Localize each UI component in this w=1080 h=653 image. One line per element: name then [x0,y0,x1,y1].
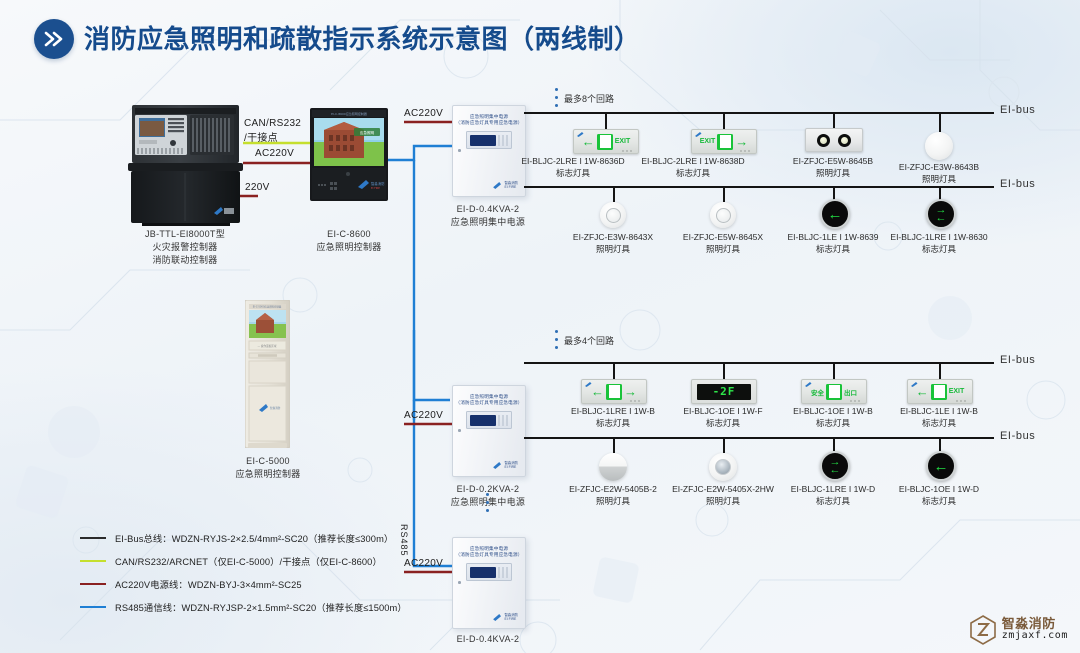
ei-bus-name-1: EI-bus [1000,104,1035,116]
psu-bottom-caption: EI-D-0.4KVA-2 [428,633,548,646]
cabinet-illustration [128,103,243,226]
brand-tag-icon [577,132,584,137]
legend-color-swatch [80,560,106,563]
device-dome-lamp[interactable] [925,132,953,160]
psu-mid-display [466,411,512,429]
arrow-right-glyph: → [624,385,637,398]
emergency-lighting-controller-8600[interactable]: EI-C-8600应急照明控制器 应急照明 智 [310,108,388,201]
drop-line [613,188,615,202]
ac220v-label-1: AC220V [255,148,294,159]
running-man-glyph [717,134,733,150]
device-label: EI-BLJC-1OE I 1W-D标志灯具 [874,484,1004,507]
device-safety-exit-sign[interactable]: 安全 出口 [801,379,867,404]
svg-text:应急照明: 应急照明 [360,130,375,135]
drop-line [605,114,607,130]
controller-8600-illustration: EI-C-8600应急照明控制器 应急照明 智 [310,108,388,201]
legend-row: RS485通信线：WDZN-RYJSP-2×1.5mm²-SC20（推荐长度≤1… [80,597,510,617]
controller-5000-illustration: EI-C-5000应急照明控制器 — 操作面板区域 智淼消防 [245,300,290,448]
exit-sign-both-icon: ← → [581,379,647,404]
drop-line [613,439,615,453]
device-round-arrow-double[interactable]: →← [926,199,956,229]
legend-text: RS485通信线：WDZN-RYJSP-2×1.5mm²-SC20（推荐长度≤1… [115,600,407,614]
device-round-arrow-left[interactable]: ← [820,199,850,229]
exit-word: EXIT [700,138,716,145]
legend-text: AC220V电源线：WDZN-BYJ-3×4mm²-SC25 [115,577,302,591]
ei-bus-line-1 [524,112,994,114]
drop-line [833,439,835,451]
legend-row: CAN/RS232/ARCNET（仅EI-C-5000）/干接点（仅EI-C-8… [80,551,510,571]
device-half-dome-lamp[interactable] [599,453,627,481]
fire-panel-model: JB-TTL-EI8000T型 [110,228,260,241]
device-label: EI-BLJC-2LRE I 1W-8636D标志灯具 [508,156,638,179]
continuation-dots-psu [486,493,489,512]
loop-note-top: 最多8个回路 [564,92,614,105]
watermark-name: 智淼消防 [1002,618,1068,630]
safety-word: 安全 [811,387,824,397]
device-label: EI-BLJC-1LE I 1W-B标志灯具 [874,406,1004,429]
psu-top-display [466,131,512,149]
psu-bottom-model: EI-D-0.4KVA-2 [428,633,548,646]
psu-top-panel-title: 应急照明集中电源（消防应急灯具专用应急电源） [453,114,525,126]
arrow-left-glyph: ← [934,459,949,474]
half-dome-lamp-icon [599,453,627,481]
sensor-lamp-icon [709,453,737,481]
round-arrow-double-icon: →← [926,199,956,229]
drop-line [723,364,725,379]
legend-text: CAN/RS232/ARCNET（仅EI-C-5000）/干接点（仅EI-C-8… [115,554,382,568]
psu-top-name: 应急照明集中电源 [428,216,548,229]
loop-dots-top [555,88,558,107]
round-arrow-left-icon: ← [820,199,850,229]
can-rs232-label: CAN/RS232/干接点 [244,118,301,144]
brand-tag-icon [911,382,918,387]
ceiling-lamp-icon [600,202,626,228]
running-man-glyph [606,384,622,400]
floor-lcd: -2F [697,384,751,400]
controller-8600-model: EI-C-8600 [289,228,409,241]
legend-color-swatch [80,537,106,540]
device-floor-indicator[interactable]: -2F [691,379,757,404]
page-header: 消防应急照明和疏散指示系统示意图（两线制） [0,0,1080,78]
device-exit-sign-left[interactable]: ← EXIT [573,129,639,154]
device-twin-spot-lamp[interactable] [805,128,863,152]
ceiling-lamp-icon [710,202,736,228]
loop-dots-bottom [555,330,558,349]
legend: EI-Bus总线：WDZN-RYJS-2×2.5/4mm²-SC20（推荐长度≤… [80,528,510,620]
device-label: EI-ZFJC-E3W-8643B照明灯具 [874,162,1004,185]
ei-bus-line-3 [524,362,994,364]
legend-row: AC220V电源线：WDZN-BYJ-3×4mm²-SC25 [80,574,510,594]
ei-bus-name-3: EI-bus [1000,354,1035,366]
fire-panel-name1: 火灾报警控制器 [110,241,260,254]
brand-tag-icon [695,132,702,137]
drop-line [939,364,941,379]
controller-8600-caption: EI-C-8600 应急照明控制器 [289,228,409,254]
watermark-site: zmjaxf.com [1002,630,1068,642]
legend-color-swatch [80,606,106,609]
loop-note-bottom: 最多4个回路 [564,334,614,347]
drop-line [723,439,725,453]
running-man-glyph [597,134,613,150]
running-man-glyph [826,384,842,400]
fire-alarm-panel-cabinet[interactable] [128,103,243,226]
device-ceiling-lamp[interactable] [710,202,736,228]
controller-5000-name: 应急照明控制器 [208,468,328,481]
floor-text: -2F [713,385,736,398]
device-round-arrow-left[interactable]: ← [926,451,956,481]
exit-sign-left-icon: ← EXIT [907,379,973,404]
v220-label: 220V [245,182,270,193]
round-arrow-double-icon: →← [820,451,850,481]
psu-top-model: EI-D-0.4KVA-2 [428,203,548,216]
safety-exit-sign-icon: 安全 出口 [801,379,867,404]
drop-line [723,114,725,130]
drop-line [833,114,835,128]
round-arrow-left-icon: ← [926,451,956,481]
drop-line [939,439,941,451]
psu-mid-logo: 智淼消防EI FIRE [493,461,518,469]
device-label: EI-BLJC-1LRE I 1W-8630标志灯具 [874,232,1004,255]
diagram-canvas: 消防应急照明和疏散指示系统示意图（两线制） [0,0,1080,653]
svg-text:EI FIRE: EI FIRE [371,186,380,190]
exit-word: EXIT [949,388,965,395]
legend-text: EI-Bus总线：WDZN-RYJS-2×2.5/4mm²-SC20（推荐长度≤… [115,531,393,545]
exit-sign-right-icon: EXIT → [691,129,757,154]
ac220v-label-psu-top: AC220V [404,108,443,119]
arrow-left-glyph: ← [936,214,947,222]
svg-text:EI-C-5000应急照明控制器: EI-C-5000应急照明控制器 [253,305,282,309]
dome-lamp-icon [925,132,953,160]
exit-sign-left-icon: ← EXIT [573,129,639,154]
device-exit-sign-right[interactable]: EXIT → [691,129,757,154]
device-sensor-lamp[interactable] [709,453,737,481]
psu-mid-indicator [458,429,461,432]
device-label: EI-BLJC-2LRE I 1W-8638D标志灯具 [628,156,758,179]
page-title: 消防应急照明和疏散指示系统示意图（两线制） [84,20,641,58]
emergency-lighting-controller-5000[interactable]: EI-C-5000应急照明控制器 — 操作面板区域 智淼消防 [245,300,290,448]
arrow-left-glyph: ← [591,385,604,398]
svg-text:EI-C-8600应急照明控制器: EI-C-8600应急照明控制器 [331,111,367,116]
drop-line [723,188,725,202]
arrow-right-glyph: → [735,135,748,148]
drop-line [833,364,835,379]
fire-panel-name2: 消防联动控制器 [110,254,260,267]
watermark: 智淼消防 zmjaxf.com [970,615,1068,645]
brand-tag-icon [805,382,812,387]
legend-row: EI-Bus总线：WDZN-RYJS-2×2.5/4mm²-SC20（推荐长度≤… [80,528,510,548]
running-man-glyph [931,384,947,400]
exit-word: EXIT [615,138,631,145]
svg-text:智淼消防: 智淼消防 [270,406,281,410]
drop-line [613,364,615,379]
brand-tag-icon [585,382,592,387]
device-exit-sign-both[interactable]: ← → [581,379,647,404]
psu-top-indicator [458,149,461,152]
arrow-left-glyph: ← [830,466,841,474]
brand-mark-icon [493,182,502,189]
ei-bus-name-2: EI-bus [1000,178,1035,190]
psu-mid-panel-title: 应急照明集中电源（消防应急灯具专用应急电源） [453,394,525,406]
power-supply-unit-mid[interactable]: 应急照明集中电源（消防应急灯具专用应急电源） 智淼消防EI FIRE [452,385,526,477]
zm-logo-icon [970,615,996,645]
psu-top-logo: 智淼消防EI FIRE [493,181,518,189]
device-ceiling-lamp[interactable] [600,202,626,228]
device-round-arrow-double[interactable]: →← [820,451,850,481]
fire-alarm-panel-caption: JB-TTL-EI8000T型 火灾报警控制器 消防联动控制器 [110,228,260,267]
ac220v-label-psu-mid: AC220V [404,410,443,421]
controller-8600-name: 应急照明控制器 [289,241,409,254]
svg-text:智淼消防: 智淼消防 [371,181,385,186]
device-exit-sign-left[interactable]: ← EXIT [907,379,973,404]
svg-text:— 操作面板区域: — 操作面板区域 [258,344,277,348]
floor-indicator-icon: -2F [691,379,757,404]
ei-bus-line-4 [524,437,994,439]
controller-5000-caption: EI-C-5000 应急照明控制器 [208,455,328,481]
twin-spot-lamp-icon [805,128,863,152]
psu-top-caption: EI-D-0.4KVA-2 应急照明集中电源 [428,203,548,229]
legend-color-swatch [80,583,106,586]
brand-mark-icon [493,462,502,469]
double-chevron-right-icon [34,19,74,59]
ei-bus-line-2 [524,186,994,188]
drop-line [939,114,941,132]
ei-bus-name-4: EI-bus [1000,430,1035,442]
chevron-glyph [43,30,65,48]
arrow-left-glyph: ← [828,207,843,222]
exit-word: 出口 [844,387,857,397]
power-supply-unit-top[interactable]: 应急照明集中电源（消防应急灯具专用应急电源） 智淼消防EI FIRE [452,105,526,197]
controller-5000-model: EI-C-5000 [208,455,328,468]
